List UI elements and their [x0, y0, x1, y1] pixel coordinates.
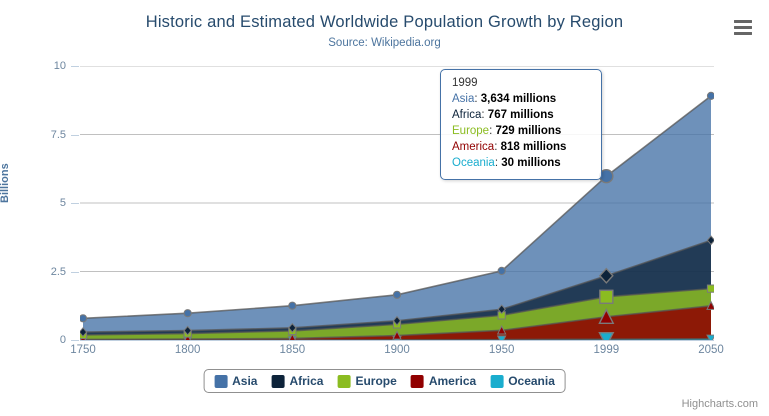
x-axis-tick-label: 1900: [384, 344, 410, 356]
marker-asia-1750[interactable]: [80, 315, 87, 322]
legend-label: America: [429, 374, 476, 388]
hamburger-bar: [734, 32, 752, 35]
tooltip-series-name: Europe: [452, 125, 489, 137]
page-title: Historic and Estimated Worldwide Populat…: [0, 13, 769, 32]
legend-item-oceania[interactable]: Oceania: [490, 374, 555, 388]
tooltip-row: America: 818 millions: [452, 139, 590, 155]
tooltip-series-value: 3,634 millions: [481, 93, 556, 105]
y-axis-tick-mark: [71, 135, 79, 136]
legend: AsiaAfricaEuropeAmericaOceania: [203, 369, 566, 393]
chart-subtitle: Source: Wikipedia.org: [0, 37, 769, 49]
legend-label: Asia: [232, 374, 257, 388]
tooltip-row: Oceania: 30 millions: [452, 155, 590, 171]
tooltip-series-name: America: [452, 141, 494, 153]
y-axis-tick-label: 2.5: [6, 266, 66, 278]
tooltip-row: Asia: 3,634 millions: [452, 91, 590, 107]
tooltip-series-value: 729 millions: [495, 125, 561, 137]
x-axis-tick-label: 1999: [594, 344, 620, 356]
y-axis-tick-label: 7.5: [6, 129, 66, 141]
hamburger-bar: [734, 26, 752, 29]
y-axis-tick-mark: [71, 203, 79, 204]
tooltip-series-name: Asia: [452, 93, 474, 105]
legend-label: Oceania: [508, 374, 555, 388]
plot-area: [80, 66, 714, 340]
legend-item-asia[interactable]: Asia: [214, 374, 257, 388]
x-axis-tick-label: 1800: [175, 344, 201, 356]
highcharts-container: Historic and Estimated Worldwide Populat…: [0, 0, 769, 416]
legend-swatch-icon: [490, 375, 503, 388]
legend-item-europe[interactable]: Europe: [337, 374, 396, 388]
tooltip-series-value: 767 millions: [488, 109, 554, 121]
tooltip-rows: Asia: 3,634 millionsAfrica: 767 millions…: [452, 91, 590, 171]
tooltip-header: 1999: [452, 77, 590, 89]
y-axis-tick-mark: [71, 340, 79, 341]
y-axis-tick-mark: [71, 66, 79, 67]
legend-swatch-icon: [411, 375, 424, 388]
marker-asia-1850[interactable]: [289, 302, 296, 309]
x-axis-tick-label: 2050: [698, 344, 724, 356]
y-axis-tick-label: 10: [6, 60, 66, 72]
credits-link[interactable]: Highcharts.com: [682, 398, 758, 410]
legend-swatch-icon: [214, 375, 227, 388]
tooltip-series-name: Oceania: [452, 157, 495, 169]
marker-asia-2050[interactable]: [707, 92, 714, 99]
y-axis-tick-label: 0: [6, 334, 66, 346]
y-axis-tick-mark: [71, 272, 79, 273]
hamburger-menu-icon[interactable]: [731, 16, 755, 38]
legend-item-africa[interactable]: Africa: [271, 374, 323, 388]
legend-item-america[interactable]: America: [411, 374, 476, 388]
tooltip-series-value: 818 millions: [501, 141, 567, 153]
tooltip-row: Africa: 767 millions: [452, 107, 590, 123]
y-axis-tick-label: 5: [6, 197, 66, 209]
legend-swatch-icon: [271, 375, 284, 388]
marker-asia-1900[interactable]: [393, 291, 400, 298]
x-axis-tick-label: 1850: [280, 344, 306, 356]
hamburger-bar: [734, 20, 752, 23]
x-axis-line: [80, 340, 714, 341]
legend-label: Africa: [289, 374, 323, 388]
series-areas: [83, 96, 711, 340]
x-axis-tick-label: 1950: [489, 344, 515, 356]
legend-label: Europe: [355, 374, 396, 388]
tooltip-series-name: Africa: [452, 109, 481, 121]
marker-asia-1950[interactable]: [498, 267, 505, 274]
x-axis-tick-label: 1750: [70, 344, 96, 356]
tooltip: 1999 Asia: 3,634 millionsAfrica: 767 mil…: [440, 69, 602, 180]
marker-europe-1999[interactable]: [600, 290, 613, 303]
tooltip-row: Europe: 729 millions: [452, 123, 590, 139]
marker-europe-2050[interactable]: [707, 285, 714, 292]
legend-swatch-icon: [337, 375, 350, 388]
marker-asia-1800[interactable]: [184, 310, 191, 317]
tooltip-series-value: 30 millions: [501, 157, 560, 169]
legend-items: AsiaAfricaEuropeAmericaOceania: [214, 374, 555, 388]
marker-oceania-1950[interactable]: [498, 336, 506, 340]
